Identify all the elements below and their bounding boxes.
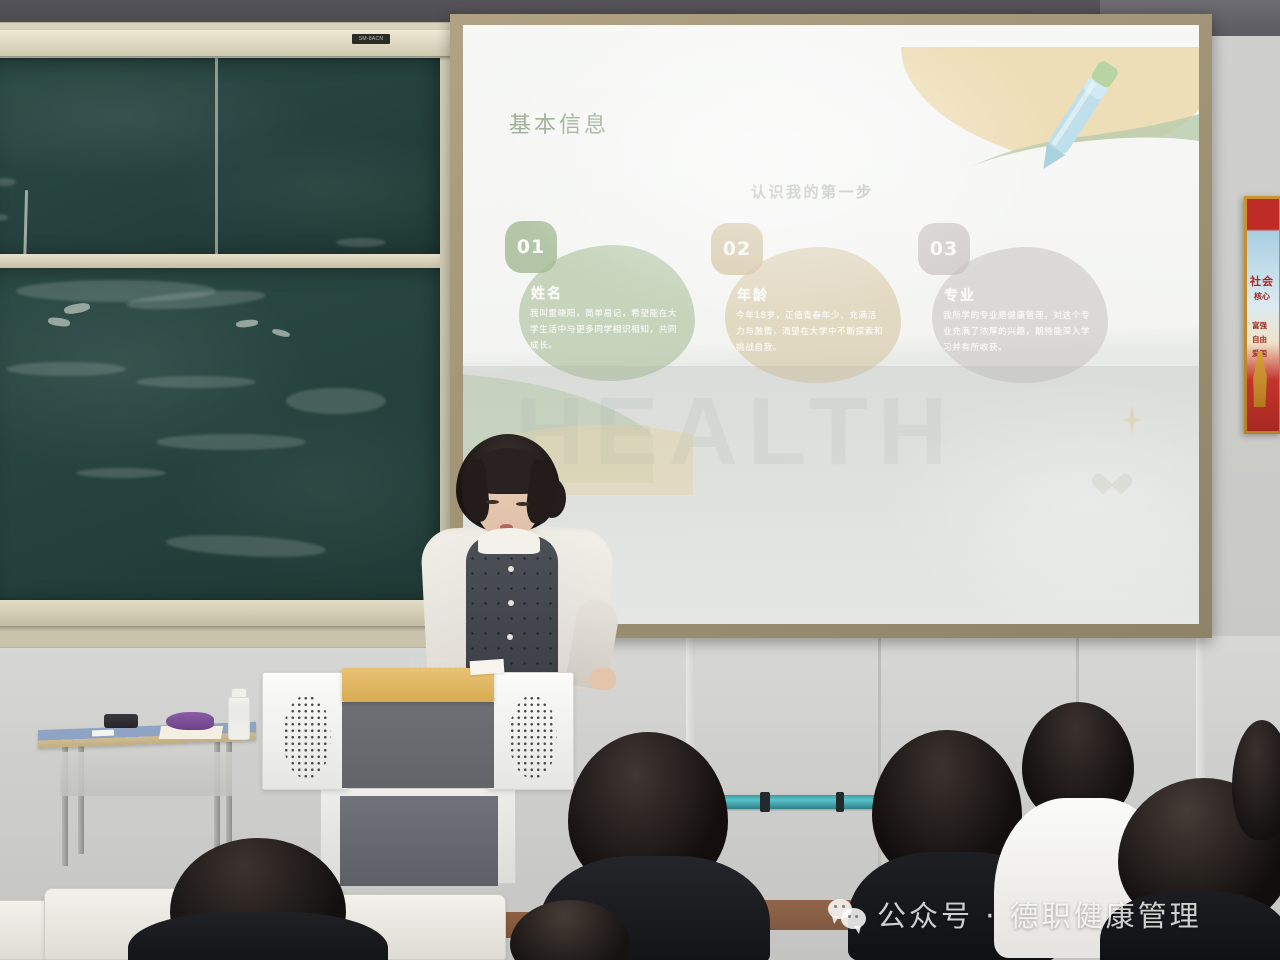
pipe-joint bbox=[760, 792, 770, 812]
chalk-smear bbox=[136, 376, 256, 388]
card-body: 我叫雷晓阳，简单易记，希望能在大学生活中与更多同学相识相知，共同成长。 bbox=[530, 307, 678, 355]
chalk-mark bbox=[0, 178, 16, 186]
chalk-mark bbox=[23, 190, 28, 258]
presenter bbox=[404, 432, 624, 682]
wall-pipe bbox=[718, 795, 894, 809]
button bbox=[508, 566, 514, 572]
poster-heading: 社会 bbox=[1250, 273, 1274, 289]
speaker-grille bbox=[283, 695, 331, 779]
poster-subheading: 核心 bbox=[1254, 291, 1270, 302]
bottle-cap bbox=[231, 688, 247, 698]
chalk-stick bbox=[92, 730, 114, 737]
slide-title: 基本信息 bbox=[509, 107, 609, 139]
watermark: 公众号 · 德职健康管理 bbox=[828, 893, 1202, 935]
info-card-02: 02 年龄 今年18岁，正值青春年少、充满活力与激情，渴望在大学中不断探索和挑战… bbox=[711, 223, 901, 388]
lectern-front-panel bbox=[342, 702, 494, 788]
classroom-photo: SM-8ACN HEALTH 基本信息 认识我的第一步 0 bbox=[0, 0, 1280, 960]
blackboard-chalk-tray bbox=[0, 600, 454, 626]
chalk-mark bbox=[236, 319, 259, 328]
card-label: 年龄 bbox=[737, 285, 769, 305]
table-top bbox=[38, 722, 256, 748]
chalk-smear bbox=[6, 362, 126, 376]
pencil-icon bbox=[1028, 55, 1126, 179]
lectern-speaker-left bbox=[262, 672, 348, 790]
card-label: 姓名 bbox=[531, 283, 563, 303]
pipe-joint bbox=[836, 792, 844, 812]
decor-white-wave bbox=[859, 121, 1199, 231]
blackboard-mid-rail bbox=[0, 254, 440, 268]
purple-cloth bbox=[166, 712, 214, 730]
heart-icon bbox=[1099, 465, 1125, 489]
wechat-bubble-small bbox=[841, 908, 866, 929]
card-body: 我所学的专业是健康管理，对这个专业充满了浓厚的兴趣，期待能深入学习并有所收获。 bbox=[943, 309, 1091, 357]
chalk-smear bbox=[156, 434, 306, 450]
card-number: 01 bbox=[505, 221, 557, 273]
laptop bbox=[410, 658, 466, 672]
collar bbox=[478, 528, 540, 554]
wechat-icon bbox=[828, 899, 866, 929]
values-poster: 社会 核心 富强自由爱国 bbox=[1244, 196, 1280, 434]
chalk-smear bbox=[76, 468, 166, 478]
blackboard-upper-panel bbox=[0, 58, 440, 258]
card-body: 今年18岁，正值青春年少、充满活力与激情，渴望在大学中不断探索和挑战自我。 bbox=[736, 309, 884, 357]
lectern-base-panel bbox=[340, 796, 498, 886]
blackboard-brand-label: SM-8ACN bbox=[352, 34, 390, 44]
card-number: 02 bbox=[711, 223, 763, 275]
button bbox=[508, 600, 514, 606]
chalk-mark bbox=[336, 238, 386, 247]
button bbox=[507, 634, 513, 640]
lectern-speaker-right bbox=[488, 672, 574, 790]
poster-inner: 社会 核心 富强自由爱国 bbox=[1247, 199, 1279, 431]
slide-subtitle: 认识我的第一步 bbox=[751, 181, 874, 202]
chalk-smear bbox=[286, 388, 386, 414]
chalk-mark bbox=[272, 328, 291, 338]
blackboard-eraser bbox=[104, 714, 138, 728]
chalk-smear bbox=[166, 532, 327, 560]
chalk-mark bbox=[0, 214, 8, 221]
blackboard-lower-panel bbox=[0, 268, 440, 604]
decor-green-wave bbox=[879, 111, 1199, 231]
sparkle-icon bbox=[1121, 405, 1143, 435]
eye-left bbox=[486, 500, 499, 504]
decor-tan-wave bbox=[829, 47, 1199, 177]
blackboard-divider bbox=[215, 58, 218, 258]
chalk-mark bbox=[48, 317, 71, 328]
info-card-03: 03 专业 我所学的专业是健康管理，对这个专业充满了浓厚的兴趣，期待能深入学习并… bbox=[918, 223, 1108, 388]
water-bottle bbox=[228, 696, 250, 740]
card-number: 03 bbox=[918, 223, 970, 275]
hand-right bbox=[590, 668, 616, 690]
eye-right bbox=[516, 502, 529, 506]
info-card-01: 01 姓名 我叫雷晓阳，简单易记，希望能在大学生活中与更多同学相识相知，共同成长… bbox=[505, 221, 695, 386]
table-apron bbox=[60, 752, 232, 796]
speaker-grille bbox=[509, 695, 557, 779]
card-label: 专业 bbox=[944, 285, 976, 305]
watermark-text: 公众号 · 德职健康管理 bbox=[877, 893, 1202, 935]
chalk-mark bbox=[63, 302, 90, 315]
audience-shoulders bbox=[128, 912, 388, 960]
paper-sheet bbox=[470, 659, 505, 675]
